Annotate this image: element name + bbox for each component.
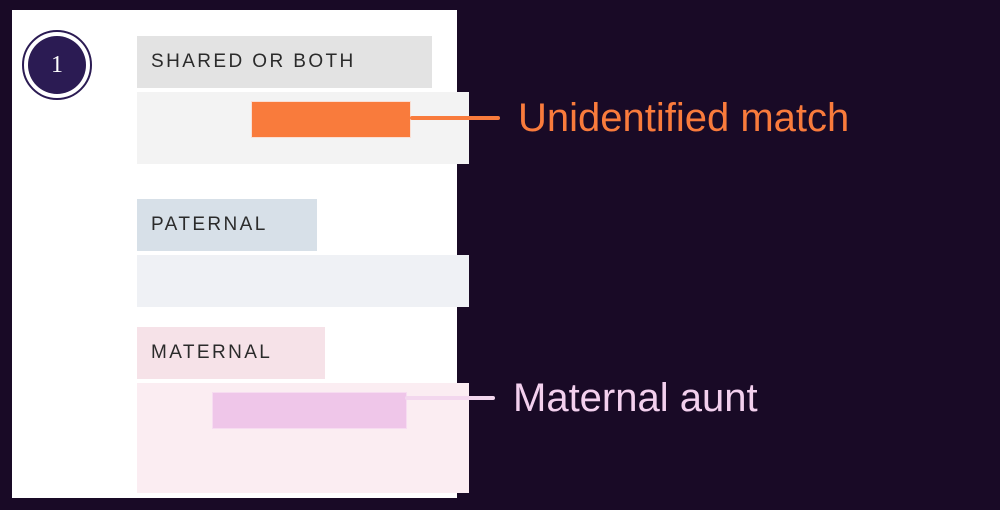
leader-line-icon: [410, 116, 500, 120]
track-paternal-body: [137, 255, 469, 307]
chromosome-card: 1 SHARED OR BOTH PATERNAL MATERNAL: [12, 10, 457, 498]
chromosome-browser-stage: 1 SHARED OR BOTH PATERNAL MATERNAL Unide…: [0, 0, 1000, 510]
callout-maternal-aunt: Maternal aunt: [405, 378, 758, 418]
track-shared-or-both: SHARED OR BOTH: [137, 36, 457, 164]
callout-unidentified-match-label: Unidentified match: [518, 98, 849, 138]
segment-maternal-aunt[interactable]: [212, 392, 407, 429]
chromosome-number-badge[interactable]: 1: [22, 30, 96, 104]
segment-unidentified-match[interactable]: [251, 101, 411, 138]
track-paternal: PATERNAL: [137, 199, 457, 307]
leader-line-icon: [405, 396, 495, 400]
badge-number-label: 1: [28, 36, 86, 94]
callout-maternal-aunt-label: Maternal aunt: [513, 378, 758, 418]
track-shared-or-both-label: SHARED OR BOTH: [137, 36, 432, 88]
track-maternal-label: MATERNAL: [137, 327, 325, 379]
track-paternal-label: PATERNAL: [137, 199, 317, 251]
callout-unidentified-match: Unidentified match: [410, 98, 849, 138]
